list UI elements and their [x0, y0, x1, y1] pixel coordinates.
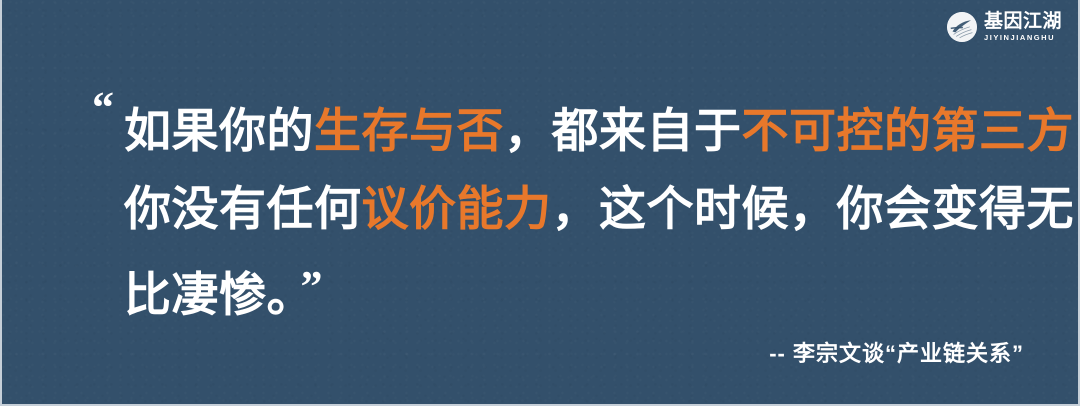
circular-swoosh-icon [947, 12, 977, 42]
quote-line: 如果你的生存与否，都来自于不可控的第三方， [2, 92, 1080, 170]
quote-card: 基因江湖 JIYINJIANGHU “ 如果你的生存与否，都来自于不可控的第三方… [0, 0, 1080, 406]
close-quote-mark: ” [301, 262, 324, 311]
quote-segment: ， [1074, 104, 1080, 157]
quote-block: “ 如果你的生存与否，都来自于不可控的第三方， 你没有任何议价能力，这个时候，你… [2, 92, 1080, 326]
brand-logo: 基因江湖 JIYINJIANGHU [947, 12, 1062, 42]
open-quote-mark: “ [92, 86, 114, 130]
quote-segment: 如果你的 [124, 104, 314, 157]
quote-segment-highlight: 不可控的第三方 [742, 104, 1075, 157]
brand-name-cn: 基因江湖 [984, 12, 1062, 31]
quote-line: 比凄惨。” [2, 248, 1080, 326]
quote-segment: 比凄惨。 [124, 268, 291, 321]
quote-line: 你没有任何议价能力，这个时候，你会变得无 [2, 170, 1080, 248]
brand-wordmark: 基因江湖 JIYINJIANGHU [984, 12, 1062, 42]
quote-segment-highlight: 生存与否 [314, 104, 504, 157]
brand-name-en: JIYINJIANGHU [984, 34, 1055, 42]
quote-segment: ，都来自于 [504, 104, 742, 157]
quote-segment-highlight: 议价能力 [362, 182, 552, 235]
quote-segment: ，这个时候，你会变得无 [552, 182, 1075, 235]
attribution: -- 李宗文谈“产业链关系” [769, 336, 1024, 368]
quote-segment: 你没有任何 [124, 182, 362, 235]
